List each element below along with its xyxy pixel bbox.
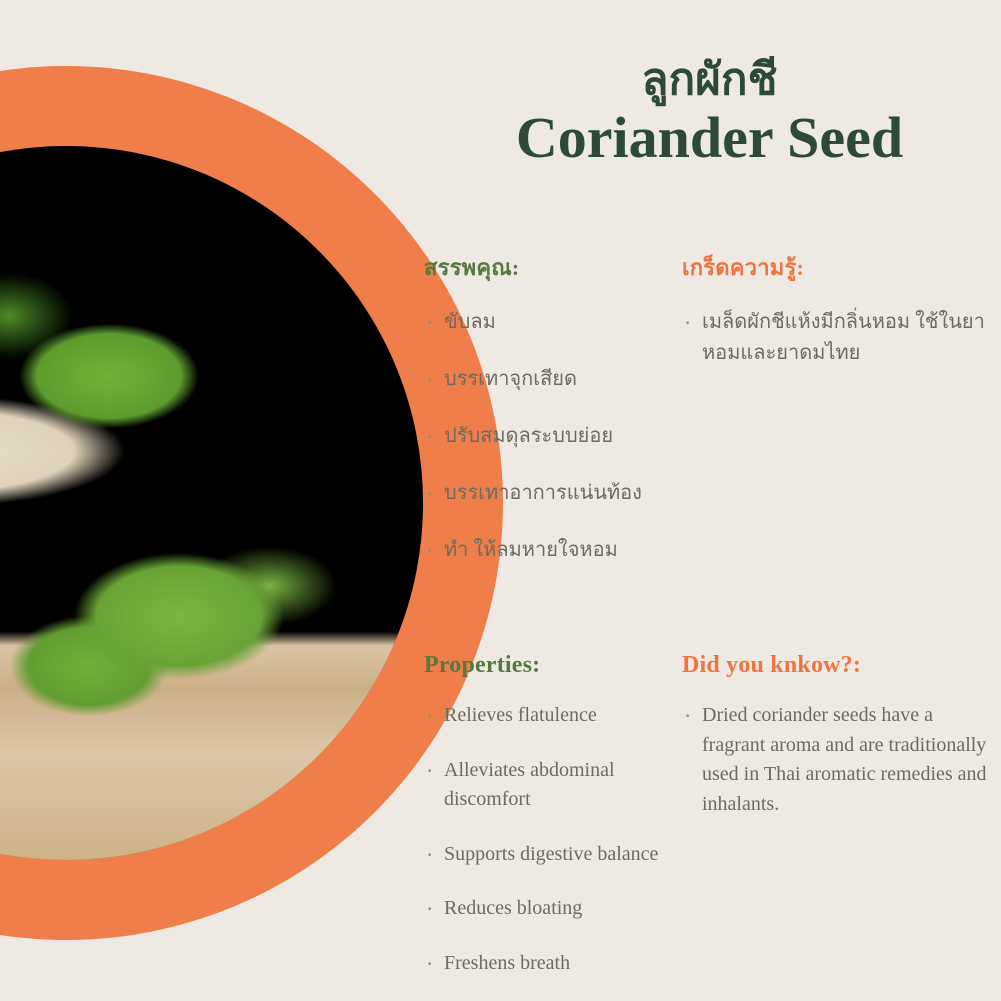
list-item: ปรับสมดุลระบบย่อย bbox=[424, 421, 670, 452]
list-item: Reduces bloating bbox=[424, 894, 670, 924]
list-item: Freshens breath bbox=[424, 949, 670, 979]
section-properties-thai: สรรพคุณ: ขับลม บรรเทาจุกเสียด ปรับสมดุลร… bbox=[424, 250, 682, 592]
list-item: ทำ ให้ลมหายใจหอม bbox=[424, 535, 670, 566]
list-item: Supports digestive balance bbox=[424, 840, 670, 870]
section-heading-didyouknow-english: Did you knkow?: bbox=[682, 652, 1001, 679]
page-title: ลูกผักชี Coriander Seed bbox=[418, 58, 1001, 171]
didyouknow-english-list: Dried coriander seeds have a fragrant ar… bbox=[682, 701, 1001, 819]
page-title-thai: ลูกผักชี bbox=[418, 58, 1001, 102]
section-heading-properties-thai: สรรพคุณ: bbox=[424, 250, 670, 285]
content-column: ลูกผักชี Coriander Seed สรรพคุณ: ขับลม บ… bbox=[418, 0, 1001, 1001]
list-item: บรรเทาจุกเสียด bbox=[424, 364, 670, 395]
properties-thai-list: ขับลม บรรเทาจุกเสียด ปรับสมดุลระบบย่อย บ… bbox=[424, 307, 670, 566]
didyouknow-thai-list: เมล็ดผักชีแห้งมีกลิ่นหอม ใช้ในยาหอมและยา… bbox=[682, 307, 1001, 369]
properties-english-list: Relieves flatulence Alleviates abdominal… bbox=[424, 701, 670, 979]
list-item: บรรเทาอาการแน่นท้อง bbox=[424, 478, 670, 509]
coriander-seed-photo-art bbox=[0, 146, 423, 860]
list-item: เมล็ดผักชีแห้งมีกลิ่นหอม ใช้ในยาหอมและยา… bbox=[682, 307, 1001, 369]
coriander-seed-photo bbox=[0, 146, 423, 860]
page-title-english: Coriander Seed bbox=[418, 106, 1001, 171]
section-didyouknow-english: Did you knkow?: Dried coriander seeds ha… bbox=[682, 652, 1001, 1001]
list-item: Relieves flatulence bbox=[424, 701, 670, 731]
infographic-card: ลูกผักชี Coriander Seed สรรพคุณ: ขับลม บ… bbox=[0, 0, 1001, 1001]
list-item: Dried coriander seeds have a fragrant ar… bbox=[682, 701, 1001, 819]
list-item: ขับลม bbox=[424, 307, 670, 338]
section-heading-didyouknow-thai: เกร็ดความรู้: bbox=[682, 250, 1001, 285]
section-heading-properties-english: Properties: bbox=[424, 652, 670, 679]
section-properties-english: Properties: Relieves flatulence Alleviat… bbox=[424, 652, 682, 1001]
sections-grid: สรรพคุณ: ขับลม บรรเทาจุกเสียด ปรับสมดุลร… bbox=[424, 250, 1001, 1001]
section-didyouknow-thai: เกร็ดความรู้: เมล็ดผักชีแห้งมีกลิ่นหอม ใ… bbox=[682, 250, 1001, 592]
list-item: Alleviates abdominal discomfort bbox=[424, 756, 670, 815]
